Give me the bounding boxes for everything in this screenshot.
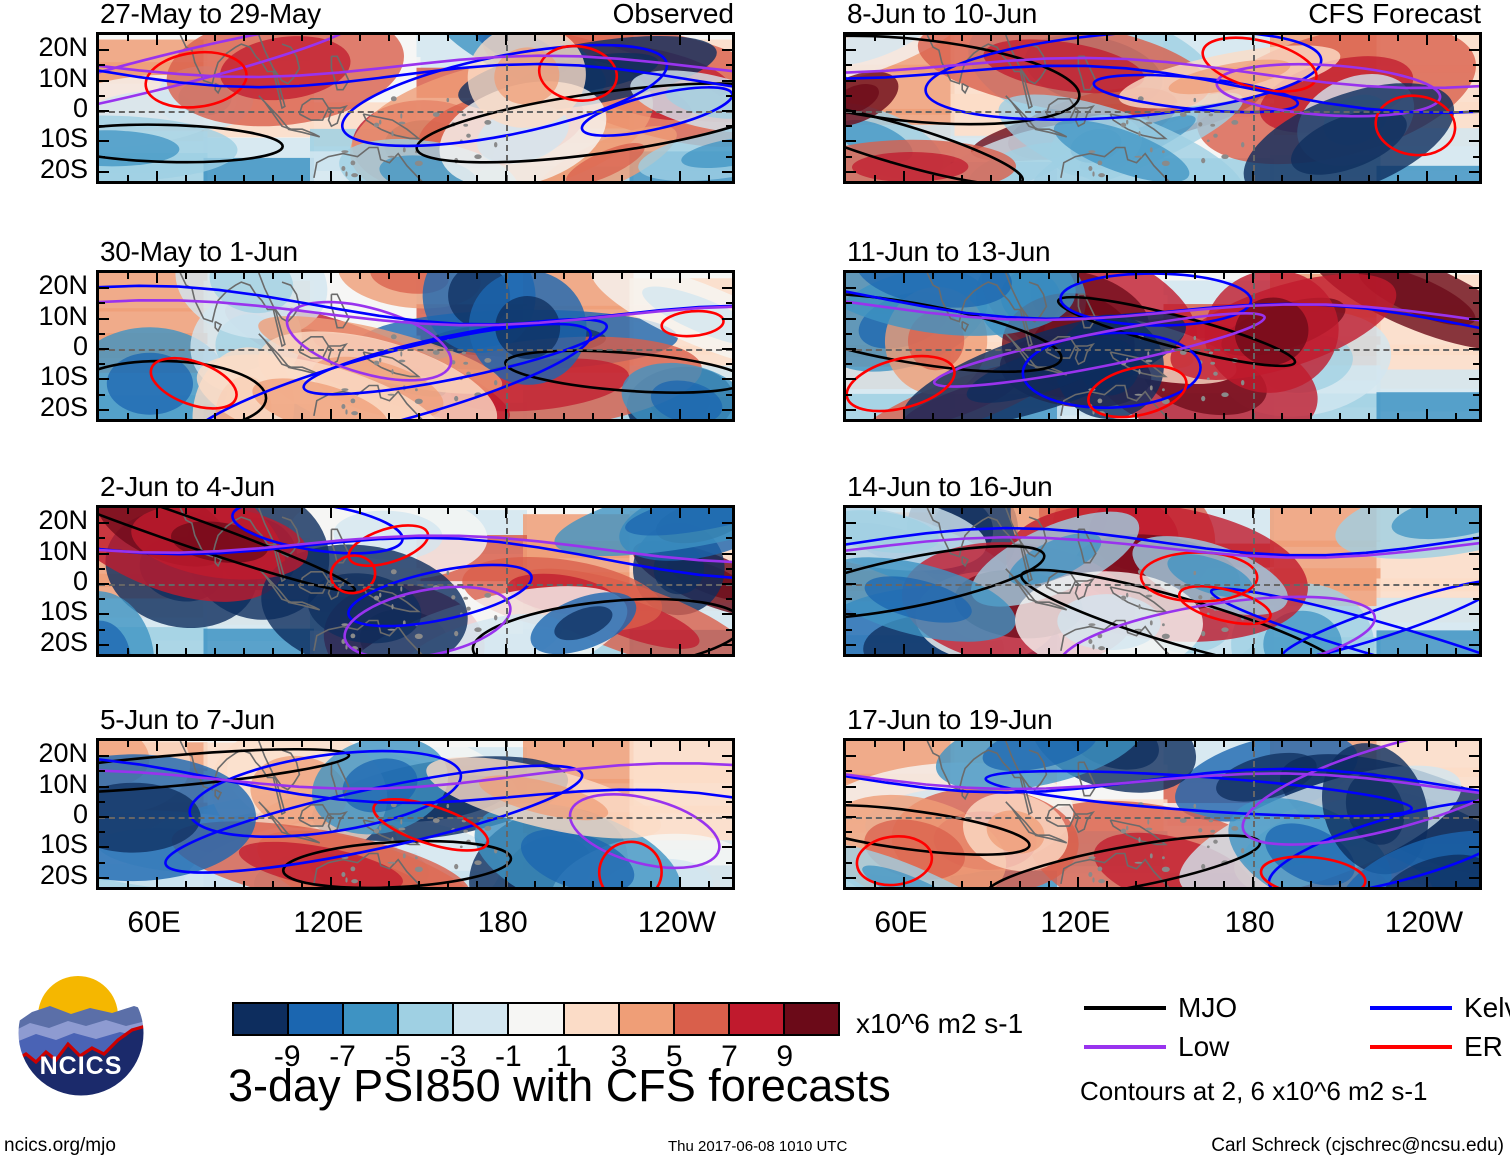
- x-tick: [1397, 175, 1399, 181]
- x-tick: [243, 508, 245, 514]
- x-tick: [1165, 273, 1167, 279]
- y-tick: [1473, 302, 1479, 304]
- x-tick: [1252, 409, 1254, 419]
- y-tick: [1473, 770, 1479, 772]
- y-tick: [1469, 378, 1479, 380]
- x-tick: [874, 648, 876, 654]
- x-tick: [1252, 644, 1254, 654]
- colorbar-swatch: [783, 1004, 838, 1034]
- y-tick: [846, 770, 852, 772]
- equator-line: [846, 817, 1479, 819]
- colorbar-swatch: [397, 1004, 452, 1034]
- map-panel-7[interactable]: [843, 505, 1482, 657]
- colorbar-swatch: [618, 1004, 673, 1034]
- y-tick: [726, 831, 732, 833]
- x-tick: [650, 273, 652, 279]
- y-tick: [99, 378, 109, 380]
- colorbar-swatch: [287, 1004, 342, 1034]
- y-tick: [722, 49, 732, 51]
- x-tick: [156, 409, 158, 419]
- map-panel-1[interactable]: [96, 32, 735, 184]
- x-tick: [1339, 35, 1341, 41]
- y-tick: [1473, 333, 1479, 335]
- x-tick: [156, 171, 158, 181]
- x-tick: [447, 413, 449, 419]
- x-tick: [679, 877, 681, 887]
- x-tick: [1194, 175, 1196, 181]
- x-tick: [932, 741, 934, 747]
- x-tick: [874, 741, 876, 747]
- x-tick: [874, 35, 876, 41]
- x-tick: [214, 273, 216, 279]
- y-tick: [99, 613, 109, 615]
- y-tick: [726, 125, 732, 127]
- x-tick: [1426, 877, 1428, 887]
- y-tick: [846, 568, 852, 570]
- x-tick: [1310, 741, 1312, 747]
- x-tick: [961, 175, 963, 181]
- x-tick: [359, 508, 361, 514]
- y-tick: [1469, 140, 1479, 142]
- x-tick: [1281, 35, 1283, 41]
- x-tick-label: 120E: [1040, 908, 1110, 938]
- y-tick: [1469, 553, 1479, 555]
- y-tick: [726, 801, 732, 803]
- x-tick: [534, 413, 536, 419]
- x-tick: [243, 35, 245, 41]
- y-tick: [846, 318, 856, 320]
- y-tick: [99, 770, 105, 772]
- x-tick: [650, 175, 652, 181]
- y-tick: [1469, 49, 1479, 51]
- x-tick: [127, 413, 129, 419]
- y-tick: [1473, 156, 1479, 158]
- dateline-180: [1253, 508, 1255, 654]
- y-tick: [846, 816, 856, 818]
- x-tick: [592, 273, 594, 279]
- x-tick: [301, 648, 303, 654]
- x-tick: [1368, 35, 1370, 41]
- y-tick: [1469, 755, 1479, 757]
- map-panel-3[interactable]: [96, 505, 735, 657]
- x-tick: [418, 413, 420, 419]
- x-tick: [563, 413, 565, 419]
- x-tick: [1223, 413, 1225, 419]
- x-tick: [1048, 35, 1050, 41]
- x-tick: [621, 273, 623, 279]
- x-tick: [1339, 175, 1341, 181]
- y-tick: [846, 348, 856, 350]
- y-tick: [846, 786, 856, 788]
- x-tick: [447, 508, 449, 514]
- x-tick: [505, 741, 507, 751]
- legend-item-mjo: MJO: [1084, 994, 1237, 1022]
- x-tick: [1455, 413, 1457, 419]
- x-tick: [156, 508, 158, 518]
- y-tick: [1469, 318, 1479, 320]
- equator-line: [846, 111, 1479, 113]
- y-tick: [726, 95, 732, 97]
- x-tick: [1426, 35, 1428, 45]
- column-header-cfs-forecast: CFS Forecast: [1308, 0, 1481, 28]
- x-tick: [243, 881, 245, 887]
- y-tick: [846, 110, 856, 112]
- x-tick: [708, 741, 710, 747]
- x-tick: [534, 508, 536, 514]
- x-tick: [388, 273, 390, 279]
- y-tick-label: 20S: [8, 156, 88, 183]
- y-tick: [99, 537, 105, 539]
- x-tick: [1281, 273, 1283, 279]
- x-tick: [961, 413, 963, 419]
- y-tick-label: 20S: [8, 394, 88, 421]
- y-tick: [99, 287, 109, 289]
- x-tick: [534, 35, 536, 41]
- x-tick: [447, 741, 449, 747]
- x-tick: [214, 175, 216, 181]
- y-tick: [1469, 613, 1479, 615]
- x-tick: [1339, 413, 1341, 419]
- x-tick: [1106, 881, 1108, 887]
- y-tick: [99, 644, 109, 646]
- x-tick: [1106, 273, 1108, 279]
- legend-item-low: Low: [1084, 1033, 1229, 1061]
- x-tick: [505, 644, 507, 654]
- x-tick: [990, 273, 992, 279]
- x-tick: [388, 413, 390, 419]
- x-tick: [1252, 741, 1254, 751]
- x-tick: [185, 35, 187, 41]
- x-tick: [1397, 648, 1399, 654]
- x-tick: [932, 273, 934, 279]
- x-tick: [534, 648, 536, 654]
- x-tick: [1135, 35, 1137, 41]
- x-tick: [330, 273, 332, 283]
- x-tick: [1368, 175, 1370, 181]
- x-tick: [1223, 175, 1225, 181]
- ncics-logo-text: NCICS: [16, 1052, 146, 1081]
- x-tick: [476, 741, 478, 747]
- y-tick: [99, 553, 109, 555]
- y-tick: [1469, 583, 1479, 585]
- y-tick: [1469, 877, 1479, 879]
- x-tick: [650, 648, 652, 654]
- x-tick: [214, 413, 216, 419]
- x-tick: [932, 881, 934, 887]
- panel-title-4: 5-Jun to 7-Jun: [100, 706, 275, 734]
- x-tick: [1019, 881, 1021, 887]
- x-tick: [1281, 175, 1283, 181]
- colorbar-swatch: [342, 1004, 397, 1034]
- x-tick: [1426, 409, 1428, 419]
- x-tick: [592, 413, 594, 419]
- x-tick: [679, 741, 681, 751]
- y-tick: [722, 522, 732, 524]
- y-tick: [722, 613, 732, 615]
- x-tick: [418, 741, 420, 747]
- y-tick: [1469, 816, 1479, 818]
- x-tick: [932, 35, 934, 41]
- x-tick: [1455, 35, 1457, 41]
- x-tick: [874, 175, 876, 181]
- x-tick: [903, 508, 905, 518]
- map-panel-8[interactable]: [843, 738, 1482, 890]
- x-tick: [156, 35, 158, 45]
- y-tick-label: 10S: [8, 363, 88, 390]
- x-tick: [1426, 741, 1428, 751]
- x-tick: [418, 35, 420, 41]
- x-tick: [476, 881, 478, 887]
- map-canvas: [99, 35, 732, 181]
- x-tick: [679, 35, 681, 45]
- x-tick: [592, 35, 594, 41]
- map-panel-6[interactable]: [843, 270, 1482, 422]
- y-tick: [1469, 287, 1479, 289]
- x-tick: [1368, 741, 1370, 747]
- y-tick: [846, 553, 856, 555]
- x-tick: [990, 881, 992, 887]
- x-tick: [127, 508, 129, 514]
- y-tick: [99, 156, 105, 158]
- y-tick: [846, 171, 856, 173]
- map-canvas: [846, 273, 1479, 419]
- x-tick: [903, 409, 905, 419]
- x-tick: [1368, 881, 1370, 887]
- panel-title-3: 2-Jun to 4-Jun: [100, 473, 275, 501]
- x-tick: [330, 409, 332, 419]
- x-tick: [1455, 273, 1457, 279]
- y-tick: [99, 409, 109, 411]
- x-tick: [185, 648, 187, 654]
- x-tick: [563, 648, 565, 654]
- x-tick: [592, 648, 594, 654]
- x-tick: [301, 273, 303, 279]
- x-tick: [1106, 35, 1108, 41]
- x-tick: [359, 881, 361, 887]
- x-tick: [359, 741, 361, 747]
- equator-line: [846, 349, 1479, 351]
- x-tick: [1310, 881, 1312, 887]
- x-tick: [359, 413, 361, 419]
- x-tick: [708, 35, 710, 41]
- x-tick: [127, 648, 129, 654]
- x-tick-label: 60E: [874, 908, 927, 938]
- x-tick: [621, 741, 623, 747]
- x-tick: [1252, 877, 1254, 887]
- y-tick: [99, 831, 105, 833]
- x-tick: [563, 741, 565, 747]
- y-tick-label: 20S: [8, 629, 88, 656]
- y-tick: [726, 302, 732, 304]
- y-tick: [99, 568, 105, 570]
- footer-website[interactable]: ncics.org/mjo: [4, 1136, 116, 1155]
- x-tick: [1194, 881, 1196, 887]
- y-tick: [1469, 786, 1479, 788]
- x-tick: [1310, 648, 1312, 654]
- x-tick: [1339, 881, 1341, 887]
- x-tick-label: 120W: [638, 908, 716, 938]
- x-tick: [1048, 881, 1050, 887]
- x-tick: [961, 508, 963, 514]
- y-tick-label: 20N: [8, 740, 88, 767]
- x-tick: [679, 508, 681, 518]
- x-tick: [990, 741, 992, 747]
- y-tick: [1473, 598, 1479, 600]
- y-tick: [722, 644, 732, 646]
- x-tick: [650, 881, 652, 887]
- dateline-180: [506, 273, 508, 419]
- x-tick: [621, 35, 623, 41]
- x-tick: [534, 273, 536, 279]
- x-tick: [903, 877, 905, 887]
- x-tick: [534, 741, 536, 747]
- x-tick: [679, 644, 681, 654]
- y-tick: [846, 125, 852, 127]
- y-tick: [99, 629, 105, 631]
- x-tick: [127, 35, 129, 41]
- x-tick: [961, 648, 963, 654]
- y-tick-label: 0: [8, 95, 88, 122]
- legend-label: Low: [1178, 1033, 1229, 1061]
- x-tick: [534, 175, 536, 181]
- x-tick: [1135, 175, 1137, 181]
- x-tick: [1077, 644, 1079, 654]
- x-tick: [1310, 413, 1312, 419]
- x-tick: [447, 881, 449, 887]
- y-tick: [722, 553, 732, 555]
- x-tick: [621, 648, 623, 654]
- x-tick: [1165, 648, 1167, 654]
- map-canvas: [99, 508, 732, 654]
- map-canvas: [846, 35, 1479, 181]
- equator-line: [99, 111, 732, 113]
- x-tick: [932, 413, 934, 419]
- x-tick: [961, 35, 963, 41]
- x-tick: [330, 35, 332, 45]
- y-tick: [846, 95, 852, 97]
- colorbar-swatch: [673, 1004, 728, 1034]
- x-tick: [1194, 741, 1196, 747]
- y-tick-label: 0: [8, 568, 88, 595]
- map-panel-5[interactable]: [843, 32, 1482, 184]
- panel-title-8: 17-Jun to 19-Jun: [847, 706, 1052, 734]
- x-tick: [301, 413, 303, 419]
- x-tick: [1019, 35, 1021, 41]
- x-tick: [874, 273, 876, 279]
- x-tick: [1455, 175, 1457, 181]
- y-tick: [726, 537, 732, 539]
- x-tick: [243, 175, 245, 181]
- x-tick: [1252, 171, 1254, 181]
- y-tick: [722, 318, 732, 320]
- x-tick: [932, 648, 934, 654]
- y-tick: [99, 80, 109, 82]
- y-tick: [846, 302, 852, 304]
- x-tick: [1223, 35, 1225, 41]
- x-tick: [592, 175, 594, 181]
- x-tick: [418, 648, 420, 654]
- y-tick: [722, 816, 732, 818]
- y-tick: [99, 755, 109, 757]
- x-tick: [476, 273, 478, 279]
- colorbar-swatch: [234, 1004, 287, 1034]
- column-header-observed: Observed: [613, 0, 734, 28]
- x-tick: [592, 881, 594, 887]
- y-tick-label: 0: [8, 333, 88, 360]
- contour-note: Contours at 2, 6 x10^6 m2 s-1: [1080, 1078, 1427, 1104]
- x-tick: [592, 508, 594, 514]
- map-panel-2[interactable]: [96, 270, 735, 422]
- ncics-logo: NCICS: [16, 968, 146, 1098]
- y-tick: [726, 333, 732, 335]
- y-tick: [722, 80, 732, 82]
- y-tick: [722, 786, 732, 788]
- x-tick: [679, 171, 681, 181]
- y-tick: [1473, 801, 1479, 803]
- x-tick: [505, 171, 507, 181]
- x-tick: [1310, 35, 1312, 41]
- x-tick: [418, 881, 420, 887]
- colorbar-units-label: x10^6 m2 s-1: [856, 1010, 1023, 1038]
- x-tick: [272, 648, 274, 654]
- y-tick: [722, 877, 732, 879]
- y-tick: [1469, 644, 1479, 646]
- x-tick: [272, 413, 274, 419]
- y-tick: [99, 583, 109, 585]
- panel-title-2: 30-May to 1-Jun: [100, 238, 298, 266]
- y-tick: [846, 378, 856, 380]
- x-tick: [1194, 273, 1196, 279]
- y-tick-label: 10N: [8, 538, 88, 565]
- y-tick-label: 20N: [8, 272, 88, 299]
- x-tick: [1135, 648, 1137, 654]
- x-tick: [330, 171, 332, 181]
- x-tick: [272, 35, 274, 41]
- x-tick: [127, 741, 129, 747]
- x-tick: [1281, 508, 1283, 514]
- x-tick: [1368, 413, 1370, 419]
- x-tick: [1252, 508, 1254, 518]
- x-tick: [272, 273, 274, 279]
- x-tick: [447, 175, 449, 181]
- x-tick: [214, 881, 216, 887]
- x-tick: [563, 881, 565, 887]
- y-tick: [99, 598, 105, 600]
- x-tick-label: 120W: [1385, 908, 1463, 938]
- map-panel-4[interactable]: [96, 738, 735, 890]
- x-tick: [1397, 413, 1399, 419]
- y-tick: [99, 522, 109, 524]
- x-tick: [1368, 273, 1370, 279]
- x-tick: [418, 508, 420, 514]
- x-tick: [505, 35, 507, 45]
- y-tick: [1473, 629, 1479, 631]
- x-tick: [1106, 175, 1108, 181]
- x-tick: [243, 648, 245, 654]
- y-tick: [726, 770, 732, 772]
- y-tick: [99, 801, 105, 803]
- y-tick: [99, 171, 109, 173]
- x-tick: [1165, 413, 1167, 419]
- y-tick: [846, 862, 852, 864]
- x-tick: [1310, 273, 1312, 279]
- x-tick: [563, 175, 565, 181]
- x-tick: [1019, 413, 1021, 419]
- x-tick: [127, 175, 129, 181]
- x-tick: [388, 508, 390, 514]
- y-tick: [846, 64, 852, 66]
- map-canvas: [99, 741, 732, 887]
